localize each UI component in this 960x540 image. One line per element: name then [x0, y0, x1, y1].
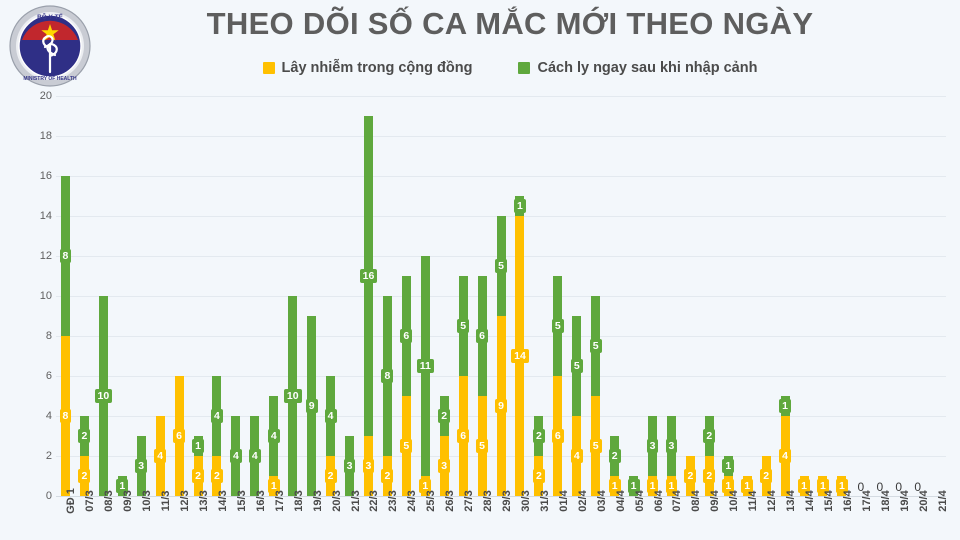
x-axis-tick: 06/4: [643, 500, 662, 540]
bar-segment-community: 5: [591, 396, 600, 496]
chart-bar-column[interactable]: 6: [170, 96, 189, 496]
chart-plot-area: 02468101214161820 8822101346124244411094…: [28, 96, 946, 496]
x-axis-tick: 09/3: [113, 500, 132, 540]
bar-value-label: 2: [760, 469, 772, 484]
bar-segment-community: 3: [364, 436, 373, 496]
bar-value-label: 10: [95, 389, 113, 404]
bar-value-label: 5: [457, 319, 469, 334]
chart-bar-column[interactable]: 2: [681, 96, 700, 496]
bar-value-label: 2: [192, 469, 204, 484]
chart-title: THEO DÕI SỐ CA MẮC MỚI THEO NGÀY: [110, 6, 910, 42]
bar-value-label: 4: [230, 449, 242, 464]
chart-bar-column[interactable]: 21: [605, 96, 624, 496]
bar-value-label: 3: [647, 439, 659, 454]
x-axis-tick: 13/4: [776, 500, 795, 540]
x-axis-tick: 19/4: [889, 500, 908, 540]
svg-text:MINISTRY OF HEALTH: MINISTRY OF HEALTH: [23, 76, 77, 82]
bar-segment-community: 3: [440, 436, 449, 496]
chart-bar-column[interactable]: 59: [492, 96, 511, 496]
bar-value-label: 4: [211, 409, 223, 424]
x-axis-tick: 28/3: [473, 500, 492, 540]
chart-bar-column[interactable]: 1: [814, 96, 833, 496]
bar-segment-quarantine: 3: [345, 436, 354, 496]
bar-segment-quarantine: 1: [781, 396, 790, 416]
chart-bar-column[interactable]: 114: [511, 96, 530, 496]
chart-bar-column[interactable]: 111: [416, 96, 435, 496]
bar-segment-quarantine: 6: [478, 276, 487, 396]
x-axis-tick: 09/4: [700, 500, 719, 540]
legend-swatch-community: [263, 62, 275, 74]
bar-value-label: 9: [495, 399, 507, 414]
chart-bar-column[interactable]: 3: [132, 96, 151, 496]
x-axis-tick: 07/4: [662, 500, 681, 540]
chart-bar-column[interactable]: 41: [264, 96, 283, 496]
bar-value-label: 8: [381, 369, 393, 384]
bar-segment-quarantine: 8: [383, 296, 392, 456]
x-axis-tick: 23/3: [378, 500, 397, 540]
bar-segment-quarantine: 10: [288, 296, 297, 496]
y-axis-tick-label: 6: [46, 370, 52, 382]
chart-bars: 8822101346124244411094231638265111235665…: [56, 96, 946, 496]
bar-value-label: 4: [154, 449, 166, 464]
bar-value-label: 3: [135, 459, 147, 474]
chart-bar-column[interactable]: 0: [908, 96, 927, 496]
chart-bar-column[interactable]: 54: [567, 96, 586, 496]
y-axis-tick-label: 0: [46, 490, 52, 502]
y-axis-tick-label: 2: [46, 450, 52, 462]
bar-value-label: 5: [571, 359, 583, 374]
chart-bar-column[interactable]: 2: [757, 96, 776, 496]
chart-bar-column[interactable]: 9: [302, 96, 321, 496]
bar-value-label: 4: [779, 449, 791, 464]
bar-segment-quarantine: 2: [705, 416, 714, 456]
chart-bar-column[interactable]: 22: [75, 96, 94, 496]
x-axis-tick: 16/3: [245, 500, 264, 540]
chart-bar-column[interactable]: 22: [700, 96, 719, 496]
bar-value-label: 5: [590, 339, 602, 354]
x-axis-tick: 24/3: [397, 500, 416, 540]
chart-bar-column[interactable]: 11: [719, 96, 738, 496]
chart-bar-column[interactable]: 82: [378, 96, 397, 496]
legend-swatch-quarantine: [518, 62, 530, 74]
bar-segment-quarantine: 4: [269, 396, 278, 476]
x-axis-tick: 16/4: [832, 500, 851, 540]
chart-bar-column[interactable]: 22: [529, 96, 548, 496]
x-axis-tick: 17/3: [264, 500, 283, 540]
x-axis-tick: 21/4: [927, 500, 946, 540]
x-axis-tick: 26/3: [435, 500, 454, 540]
x-axis-tick: 27/3: [454, 500, 473, 540]
x-axis-tick: 20/3: [321, 500, 340, 540]
bar-segment-quarantine: 2: [440, 396, 449, 436]
x-axis-tick: 14/4: [795, 500, 814, 540]
x-axis-tick: 07/3: [75, 500, 94, 540]
bar-value-label: 3: [666, 439, 678, 454]
bar-value-label: 4: [249, 449, 261, 464]
bar-segment-quarantine: 3: [648, 416, 657, 476]
bar-segment-community: 8: [61, 336, 70, 496]
chart-bar-column[interactable]: 1: [738, 96, 757, 496]
bar-segment-quarantine: 2: [534, 416, 543, 456]
chart-bar-column[interactable]: 56: [454, 96, 473, 496]
y-axis-tick-label: 12: [40, 250, 52, 262]
bar-segment-quarantine: 2: [610, 436, 619, 476]
bar-segment-community: 4: [781, 416, 790, 496]
x-axis-tick: 08/3: [94, 500, 113, 540]
chart-bar-column[interactable]: 1: [113, 96, 132, 496]
bar-value-label: 3: [438, 459, 450, 474]
bar-segment-community: 9: [497, 316, 506, 496]
x-axis-tick: 10/4: [719, 500, 738, 540]
chart-bar-column[interactable]: 10: [94, 96, 113, 496]
x-axis-tick-label: 21/4: [937, 490, 949, 511]
bar-segment-quarantine: 1: [194, 436, 203, 456]
chart-bar-column[interactable]: 1: [795, 96, 814, 496]
chart-bar-column[interactable]: 12: [189, 96, 208, 496]
bar-value-label: 14: [511, 349, 529, 364]
chart-bar-column[interactable]: 3: [340, 96, 359, 496]
chart-bar-column[interactable]: 10: [283, 96, 302, 496]
y-axis-tick-label: 18: [40, 130, 52, 142]
x-axis-tick: 10/3: [132, 500, 151, 540]
bar-value-label: 3: [363, 459, 375, 474]
legend-item-quarantine[interactable]: Cách ly ngay sau khi nhập cảnh: [518, 60, 757, 76]
bar-segment-quarantine: 5: [553, 276, 562, 376]
legend-item-community[interactable]: Lây nhiễm trong cộng đồng: [263, 60, 473, 76]
chart-bar-column[interactable]: 55: [586, 96, 605, 496]
x-axis-tick: 25/3: [416, 500, 435, 540]
bar-segment-quarantine: 4: [212, 376, 221, 456]
bar-value-label: 2: [438, 409, 450, 424]
y-axis-tick-label: 20: [40, 90, 52, 102]
bar-segment-quarantine: 9: [307, 316, 316, 496]
bar-segment-quarantine: 8: [61, 176, 70, 336]
y-axis-tick-label: 8: [46, 330, 52, 342]
x-axis-tick: 30/3: [511, 500, 530, 540]
bar-value-label: 2: [703, 429, 715, 444]
x-axis-tick: 12/3: [170, 500, 189, 540]
bar-segment-quarantine: 3: [137, 436, 146, 496]
bar-segment-community: 6: [459, 376, 468, 496]
x-axis-tick: 08/4: [681, 500, 700, 540]
chart-bar-column[interactable]: 4: [245, 96, 264, 496]
chart-bar-column[interactable]: 31: [643, 96, 662, 496]
x-axis-tick: 17/4: [851, 500, 870, 540]
chart-bar-column[interactable]: 42: [208, 96, 227, 496]
bar-segment-quarantine: 4: [250, 416, 259, 496]
bar-segment-quarantine: 3: [667, 416, 676, 476]
bar-segment-quarantine: 5: [497, 216, 506, 316]
bar-value-label: 8: [60, 249, 72, 264]
bar-value-label: 6: [552, 429, 564, 444]
bar-segment-quarantine: 5: [572, 316, 581, 416]
chart-bar-column[interactable]: 31: [662, 96, 681, 496]
y-axis: 02468101214161820: [28, 96, 52, 496]
bar-value-label: 2: [703, 469, 715, 484]
x-axis-tick: 13/3: [189, 500, 208, 540]
bar-segment-quarantine: 5: [591, 296, 600, 396]
x-axis-tick: 31/3: [529, 500, 548, 540]
bar-segment-quarantine: 10: [99, 296, 108, 496]
bar-segment-quarantine: 1: [515, 196, 524, 216]
bar-value-label: 5: [476, 439, 488, 454]
x-axis-tick: 19/3: [302, 500, 321, 540]
y-axis-tick-label: 16: [40, 170, 52, 182]
chart-bar-column[interactable]: 23: [435, 96, 454, 496]
bar-value-label: 1: [722, 459, 734, 474]
bar-value-label: 8: [60, 409, 72, 424]
bar-segment-community: 4: [572, 416, 581, 496]
bar-segment-community: 6: [175, 376, 184, 496]
x-axis-tick: GĐ 1: [56, 500, 75, 540]
chart-bar-column[interactable]: 14: [776, 96, 795, 496]
bar-value-label: 5: [400, 439, 412, 454]
x-axis-tick: 11/4: [738, 500, 757, 540]
x-axis-tick: 11/3: [151, 500, 170, 540]
bar-value-label: 2: [609, 449, 621, 464]
chart-bar-column[interactable]: 1: [624, 96, 643, 496]
bar-value-label: 2: [78, 469, 90, 484]
chart-bar-column[interactable]: 65: [473, 96, 492, 496]
chart-bar-column[interactable]: 0: [889, 96, 908, 496]
x-axis-tick: 18/3: [283, 500, 302, 540]
bar-value-label: 2: [533, 469, 545, 484]
bar-segment-community: 4: [156, 416, 165, 496]
x-axis-tick: 15/3: [226, 500, 245, 540]
ministry-of-health-logo: BỘ Y TẾ MINISTRY OF HEALTH: [8, 4, 92, 88]
x-axis-tick: 14/3: [208, 500, 227, 540]
x-axis-tick: 21/3: [340, 500, 359, 540]
bar-value-label: 5: [495, 259, 507, 274]
bar-value-label: 2: [325, 469, 337, 484]
y-axis-tick-label: 10: [40, 290, 52, 302]
bar-segment-quarantine: 4: [326, 376, 335, 456]
x-axis-tick: 02/4: [567, 500, 586, 540]
chart-bar-column[interactable]: [927, 96, 946, 496]
chart-legend: Lây nhiễm trong cộng đồng Cách ly ngay s…: [110, 60, 910, 76]
bar-value-label: 2: [533, 429, 545, 444]
x-axis-tick: 18/4: [870, 500, 889, 540]
bar-segment-quarantine: 11: [421, 256, 430, 476]
bar-value-label: 6: [476, 329, 488, 344]
chart-bar-column[interactable]: 56: [548, 96, 567, 496]
x-axis-tick: 01/4: [548, 500, 567, 540]
bar-value-label: 1: [192, 439, 204, 454]
x-axis: GĐ 107/308/309/310/311/312/313/314/315/3…: [56, 500, 946, 540]
bar-segment-quarantine: 16: [364, 116, 373, 436]
bar-segment-quarantine: 1: [724, 456, 733, 476]
x-axis-tick: 12/4: [757, 500, 776, 540]
bar-segment-quarantine: 6: [402, 276, 411, 396]
chart-bar-column[interactable]: 65: [397, 96, 416, 496]
bar-segment-community: 5: [478, 396, 487, 496]
chart-bar-column[interactable]: 0: [870, 96, 889, 496]
bar-value-label: 6: [173, 429, 185, 444]
bar-value-label: 2: [684, 469, 696, 484]
chart-bar-column[interactable]: 0: [851, 96, 870, 496]
bar-segment-community: 14: [515, 216, 524, 496]
bar-segment-community: 6: [553, 376, 562, 496]
bar-value-label: 9: [306, 399, 318, 414]
bar-segment-community: 5: [402, 396, 411, 496]
chart-bar-column[interactable]: 163: [359, 96, 378, 496]
bar-value-label: 2: [381, 469, 393, 484]
bar-segment-quarantine: 5: [459, 276, 468, 376]
bar-value-label: 1: [779, 399, 791, 414]
bar-value-label: 2: [78, 429, 90, 444]
chart-bar-column[interactable]: 4: [226, 96, 245, 496]
bar-value-label: 6: [400, 329, 412, 344]
bar-value-label: 5: [552, 319, 564, 334]
x-axis-tick: 03/4: [586, 500, 605, 540]
legend-label-quarantine: Cách ly ngay sau khi nhập cảnh: [537, 60, 757, 76]
bar-value-label: 1: [514, 199, 526, 214]
x-axis-tick: 04/4: [605, 500, 624, 540]
bar-value-label: 4: [325, 409, 337, 424]
bar-value-label: 16: [360, 269, 378, 284]
bar-value-label: 2: [211, 469, 223, 484]
chart-bar-column[interactable]: 1: [832, 96, 851, 496]
y-axis-tick-label: 4: [46, 410, 52, 422]
bar-segment-quarantine: 2: [80, 416, 89, 456]
y-axis-tick-label: 14: [40, 210, 52, 222]
x-axis-tick: 05/4: [624, 500, 643, 540]
x-axis-tick: 22/3: [359, 500, 378, 540]
bar-value-label: 4: [268, 429, 280, 444]
bar-value-label: 6: [457, 429, 469, 444]
legend-label-community: Lây nhiễm trong cộng đồng: [282, 60, 473, 76]
bar-segment-quarantine: 4: [231, 416, 240, 496]
bar-value-label: 10: [284, 389, 302, 404]
bar-value-label: 4: [571, 449, 583, 464]
bar-value-label: 3: [344, 459, 356, 474]
x-axis-tick: 29/3: [492, 500, 511, 540]
bar-value-label: 5: [590, 439, 602, 454]
chart-bar-column[interactable]: 88: [56, 96, 75, 496]
chart-bar-column[interactable]: 4: [151, 96, 170, 496]
chart-bar-column[interactable]: 42: [321, 96, 340, 496]
x-axis-tick: 15/4: [814, 500, 833, 540]
x-axis-tick: 20/4: [908, 500, 927, 540]
bar-value-label: 11: [417, 359, 434, 374]
